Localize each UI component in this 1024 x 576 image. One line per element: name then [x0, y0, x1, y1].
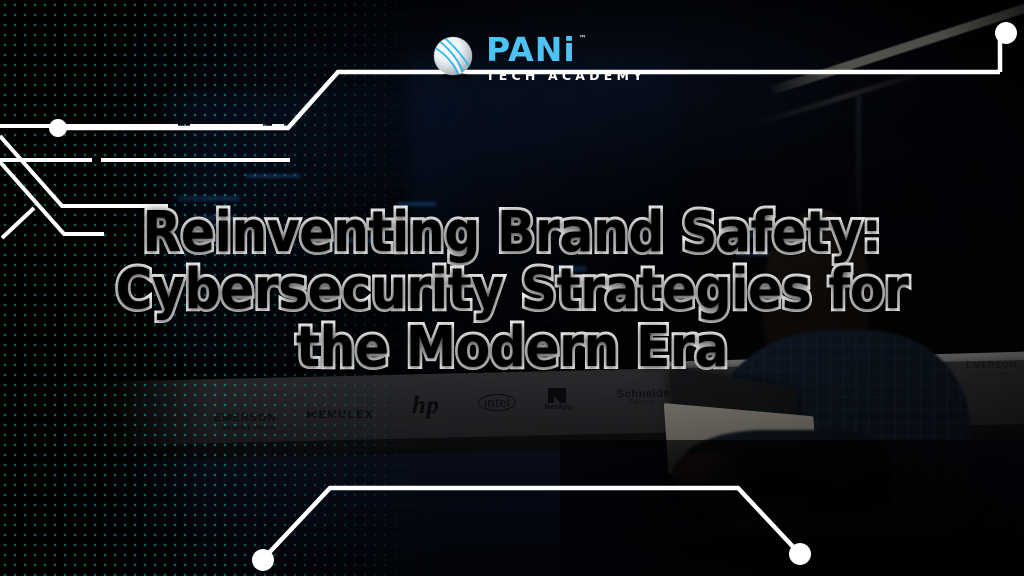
page-title: Reinventing Brand Safety: Cybersecurity …: [51, 204, 973, 377]
brand-tagline: TECH ACADEMY: [486, 68, 646, 83]
headline-line-2: Cybersecurity Strategies for: [51, 261, 973, 319]
brand-logo[interactable]: PANi™ TECH ACADEMY: [430, 32, 646, 83]
brand-wordmark: PANi™: [486, 34, 576, 65]
sphere-globe-icon: [430, 34, 478, 82]
brand-logo-text: PANi™ TECH ACADEMY: [486, 32, 646, 83]
slide-canvas: Dell EMC² EMERSON Network Power ⋈EMULEX …: [0, 0, 1024, 576]
trademark-symbol: ™: [579, 35, 587, 43]
headline-line-3: the Modern Era: [51, 319, 973, 377]
headline-line-1: Reinventing Brand Safety:: [51, 204, 973, 262]
brand-name: PANi: [486, 30, 576, 69]
